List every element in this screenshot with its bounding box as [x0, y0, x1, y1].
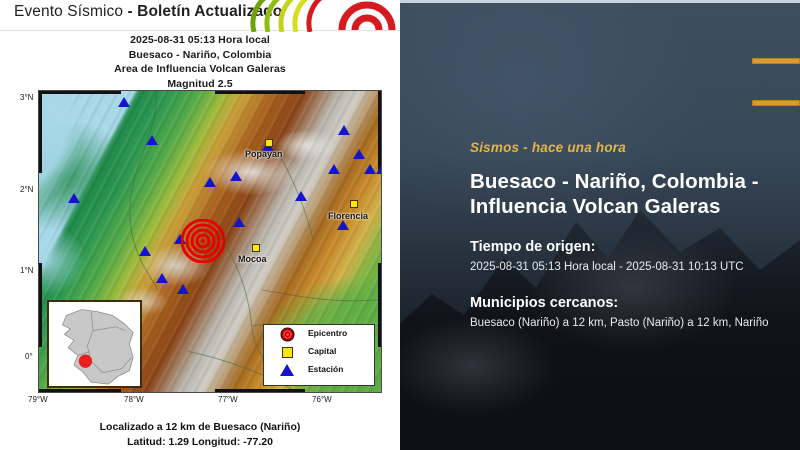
legend-row-capital: Capital [264, 343, 374, 361]
legend-row-estacion: Estación [264, 361, 374, 379]
map-legend: Epicentro Capital Estación [263, 324, 375, 386]
x-tick-77w: 77°W [218, 395, 238, 404]
footer-coordinates: Latitud: 1.29 Longitud: -77.20 [0, 435, 400, 450]
station-marker[interactable] [146, 135, 158, 145]
bulletin-header: Evento Sísmico - Boletín Actualizado [0, 0, 400, 31]
station-marker[interactable] [204, 177, 216, 187]
station-marker[interactable] [364, 164, 376, 174]
city-label-florencia: Florencia [328, 211, 368, 221]
station-marker[interactable] [338, 125, 350, 135]
news-card-content: Sismos - hace una hora Buesaco - Nariño,… [470, 140, 800, 331]
page-title-regular: Evento Sísmico [14, 3, 128, 20]
station-marker[interactable] [68, 193, 80, 203]
y-tick-3n: 3°N [20, 93, 33, 102]
screenshot-root: Evento Sísmico - Boletín Actualizado 202… [0, 0, 800, 450]
legend-row-epicentro: Epicentro [264, 325, 374, 343]
station-marker[interactable] [295, 191, 307, 201]
map-footer: Localizado a 12 km de Buesaco (Nariño) L… [0, 420, 400, 450]
frame-tick-bottom-2 [215, 389, 305, 392]
frame-tick-top-1 [39, 91, 121, 94]
sgc-arc-logo [336, 0, 398, 32]
event-datetime: 2025-08-31 05:13 Hora local [0, 33, 400, 48]
station-marker[interactable] [156, 273, 168, 283]
x-tick-76w: 76°W [312, 395, 332, 404]
accent-bar-top [752, 58, 800, 64]
origin-time-heading: Tiempo de origen: [470, 239, 800, 255]
frame-tick-right-2 [378, 263, 381, 347]
page-title: Evento Sísmico - Boletín Actualizado [14, 3, 282, 21]
map-canvas[interactable]: Popayan Florencia Mocoa [38, 90, 382, 393]
legend-label-capital: Capital [308, 346, 336, 356]
bulletin-panel: Evento Sísmico - Boletín Actualizado 202… [0, 0, 400, 450]
event-area: Area de Influencia Volcan Galeras [0, 62, 400, 77]
frame-tick-left-2 [39, 263, 42, 347]
capital-symbol-icon [282, 347, 293, 358]
news-headline: Buesaco - Nariño, Colombia - Influencia … [470, 169, 800, 219]
x-tick-79w: 79°W [28, 395, 48, 404]
y-tick-2n: 2°N [20, 185, 33, 194]
panel-top-divider [400, 0, 800, 3]
city-label-popayan: Popayan [245, 149, 283, 159]
news-headline-line2: Influencia Volcan Galeras [470, 194, 800, 219]
footer-location: Localizado a 12 km de Buesaco (Nariño) [0, 420, 400, 435]
event-location: Buesaco - Nariño, Colombia [0, 48, 400, 63]
event-summary: 2025-08-31 05:13 Hora local Buesaco - Na… [0, 33, 400, 91]
station-marker[interactable] [233, 217, 245, 227]
station-marker[interactable] [376, 164, 382, 174]
epicenter-symbol-icon [280, 327, 295, 342]
legend-label-estacion: Estación [308, 364, 343, 374]
municipalities-value: Buesaco (Nariño) a 12 km, Pasto (Nariño)… [470, 315, 800, 331]
legend-label-epicentro: Epicentro [308, 328, 347, 338]
news-headline-line1: Buesaco - Nariño, Colombia - [470, 169, 800, 194]
colombia-locator-inset [47, 300, 142, 388]
station-marker[interactable] [337, 220, 349, 230]
municipalities-heading: Municipios cercanos: [470, 295, 800, 311]
station-marker[interactable] [328, 164, 340, 174]
station-marker[interactable] [177, 284, 189, 294]
frame-tick-right-1 [378, 91, 381, 173]
station-symbol-icon [280, 364, 294, 376]
city-label-mocoa: Mocoa [238, 254, 267, 264]
station-marker[interactable] [353, 149, 365, 159]
accent-bar-second [752, 100, 800, 106]
capital-marker[interactable] [252, 244, 260, 252]
station-marker[interactable] [118, 97, 130, 107]
capital-marker[interactable] [265, 139, 273, 147]
station-marker[interactable] [230, 171, 242, 181]
y-tick-1n: 1°N [20, 266, 33, 275]
seismic-map[interactable]: 3°N 2°N 1°N 0° 79°W 78°W 77°W 76°W [20, 88, 384, 398]
epicenter-marker[interactable] [181, 219, 225, 263]
station-marker[interactable] [139, 246, 151, 256]
y-tick-0: 0° [25, 352, 33, 361]
frame-tick-left-1 [39, 91, 42, 173]
capital-marker[interactable] [350, 200, 358, 208]
sgc-wave-logo [248, 0, 334, 32]
frame-tick-top-2 [215, 91, 305, 94]
news-kicker: Sismos - hace una hora [470, 140, 800, 155]
origin-time-value: 2025-08-31 05:13 Hora local - 2025-08-31… [470, 259, 800, 275]
news-card-panel: Sismos - hace una hora Buesaco - Nariño,… [400, 0, 800, 450]
x-tick-78w: 78°W [124, 395, 144, 404]
